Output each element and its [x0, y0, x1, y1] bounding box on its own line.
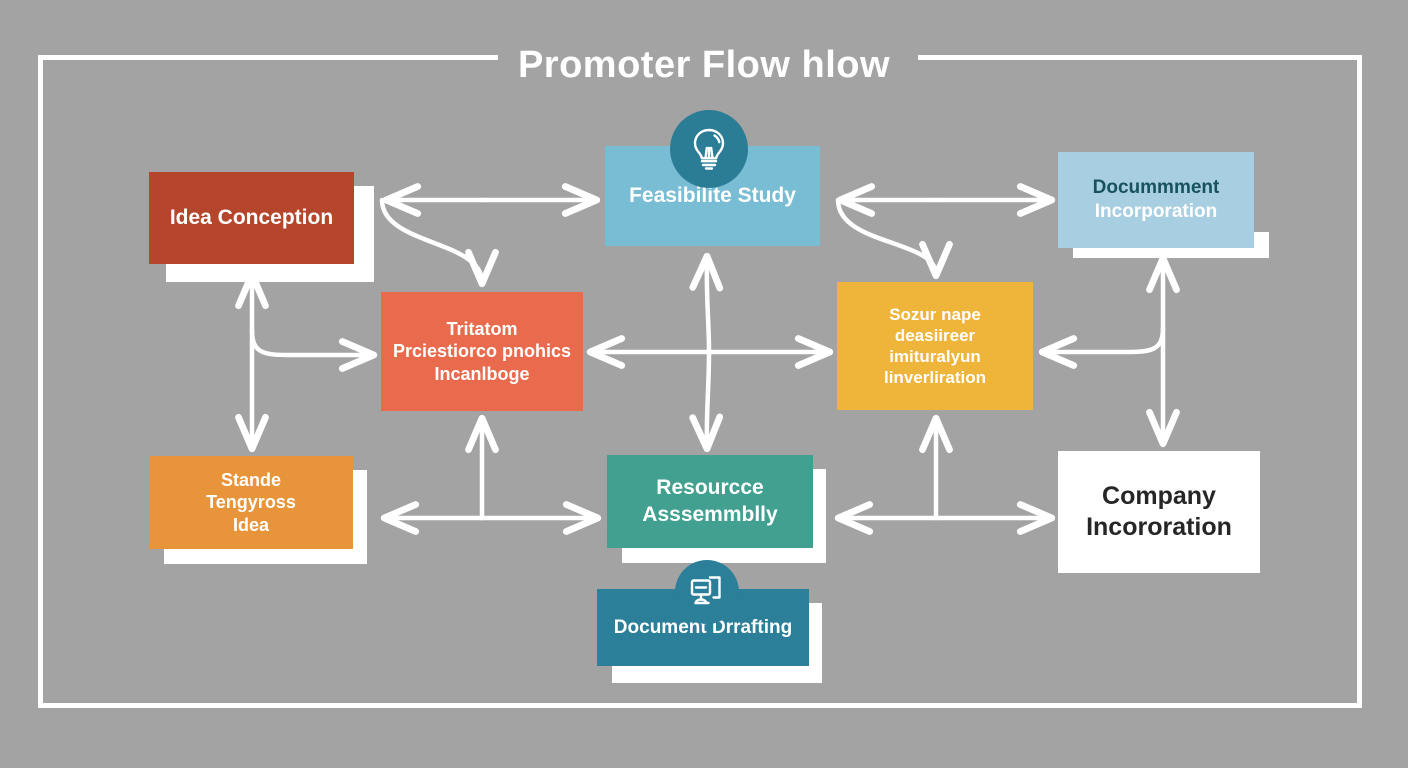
node-label: Idea Conception: [160, 205, 343, 231]
lightbulb-icon: [670, 110, 748, 188]
connector-top-left-down: [382, 200, 482, 282]
node-resourcce-asssemmblly[interactable]: ResourcceAsssemmblly: [607, 455, 813, 548]
node-label-line: Tengyross: [206, 491, 296, 514]
node-label-line: imituralyun: [884, 346, 986, 367]
node-label: StandeTengyrossIdea: [196, 469, 306, 537]
node-label-line: linverliration: [884, 367, 986, 388]
node-label-line: Idea: [206, 514, 296, 537]
flowchart-canvas: Promoter Flow hlow: [0, 0, 1408, 768]
connector-center-up: [707, 258, 709, 352]
document-monitor-icon: [675, 560, 739, 624]
node-label-line: Sozur nape: [884, 304, 986, 325]
node-label: CompanyIncororation: [1076, 481, 1242, 544]
node-tritatom-process[interactable]: TritatomPrciestiorco pnohicsIncanlboge: [381, 292, 583, 411]
node-label-line: Incororation: [1086, 512, 1232, 543]
node-label-line: Company: [1086, 481, 1232, 512]
node-label: DocummmentIncorporation: [1083, 176, 1230, 224]
connector-top-right-down: [838, 200, 936, 274]
node-docummment-incorporation[interactable]: DocummmentIncorporation: [1058, 152, 1254, 248]
node-label-line: Tritatom: [393, 318, 571, 341]
node-label: TritatomPrciestiorco pnohicsIncanlboge: [383, 318, 581, 386]
node-label: Sozur napedeasiireerimituralyunlinverlir…: [874, 304, 996, 389]
node-label-line: Idea Conception: [170, 205, 333, 231]
connector-left-right: [252, 330, 372, 355]
node-label-line: Docummment: [1093, 176, 1220, 200]
node-label-line: Asssemmblly: [642, 502, 777, 528]
node-label-line: Incorporation: [1093, 200, 1220, 224]
connector-right-left: [1044, 328, 1163, 352]
node-company-incororation[interactable]: CompanyIncororation: [1058, 451, 1260, 573]
node-label: ResourcceAsssemmblly: [632, 475, 787, 528]
node-label-line: Incanlboge: [393, 363, 571, 386]
node-label-line: deasiireer: [884, 325, 986, 346]
node-label-line: Stande: [206, 469, 296, 492]
connector-center-down: [707, 352, 709, 447]
node-label-line: Prciestiorco pnohics: [393, 340, 571, 363]
node-idea-conception[interactable]: Idea Conception: [149, 172, 354, 264]
node-stande-tengyross-idea[interactable]: StandeTengyrossIdea: [149, 456, 353, 549]
node-label-line: Resourcce: [642, 475, 777, 501]
node-sozur-nape[interactable]: Sozur napedeasiireerimituralyunlinverlir…: [837, 282, 1033, 410]
